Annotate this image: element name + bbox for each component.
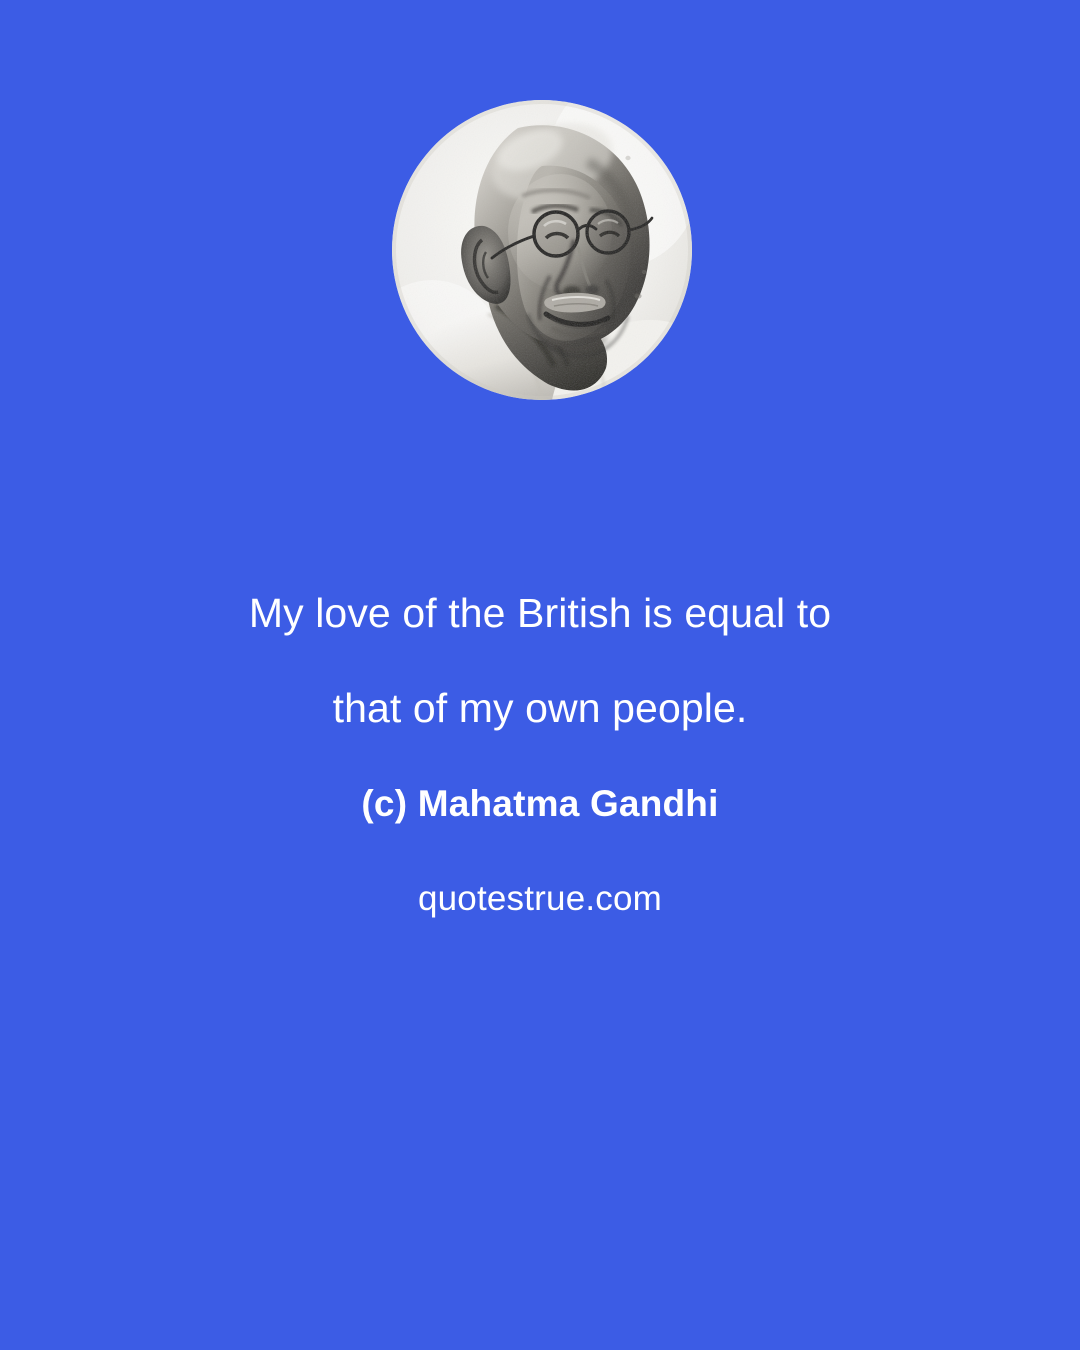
- quote-line-1: My love of the British is equal to: [0, 566, 1080, 661]
- quote-attribution: (c) Mahatma Gandhi: [0, 756, 1080, 851]
- website-credit: quotestrue.com: [0, 851, 1080, 946]
- portrait-photo-mahatma-gandhi: [392, 100, 692, 400]
- quote-text-block: My love of the British is equal to that …: [0, 566, 1080, 946]
- portrait-container: [392, 100, 692, 400]
- quote-card: My love of the British is equal to that …: [0, 0, 1080, 1350]
- quote-line-2: that of my own people.: [0, 661, 1080, 756]
